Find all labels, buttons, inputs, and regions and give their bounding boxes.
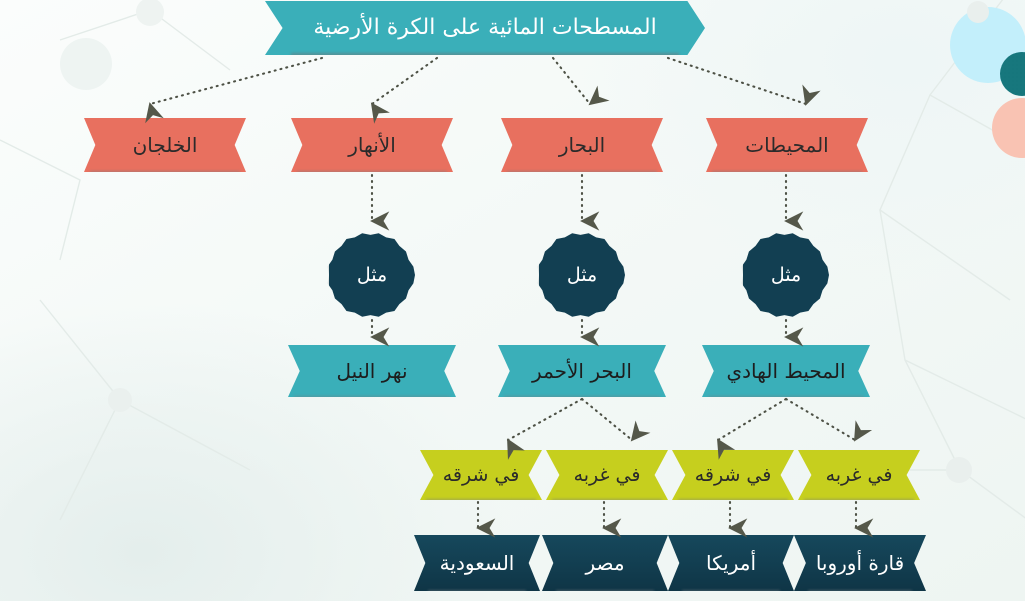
direction-label: في غربه — [826, 466, 893, 485]
example-node-red-sea[interactable]: البحر الأحمر — [498, 345, 666, 397]
example-badge-oceans: مثل — [743, 232, 829, 318]
direction-node-west-2[interactable]: في غربه — [798, 450, 920, 500]
category-node-seas[interactable]: البحار — [501, 118, 663, 172]
example-badge-rivers: مثل — [329, 232, 415, 318]
direction-label: في شرقه — [443, 466, 520, 485]
example-label: المحيط الهادي — [726, 361, 845, 381]
background-decoration — [0, 0, 1025, 601]
example-label: نهر النيل — [336, 361, 407, 381]
example-badge-seas: مثل — [539, 232, 625, 318]
category-label: المحيطات — [745, 135, 829, 155]
direction-label: في غربه — [574, 466, 641, 485]
place-label: مصر — [585, 553, 624, 573]
direction-label: في شرقه — [695, 466, 772, 485]
category-node-rivers[interactable]: الأنهار — [291, 118, 453, 172]
direction-node-east-1[interactable]: في شرقه — [420, 450, 542, 500]
direction-node-east-2[interactable]: في شرقه — [672, 450, 794, 500]
example-badge-label: مثل — [567, 264, 597, 286]
salmon-circle — [992, 98, 1025, 158]
example-badge-label: مثل — [771, 264, 801, 286]
direction-node-west-1[interactable]: في غربه — [546, 450, 668, 500]
page-title: المسطحات المائية على الكرة الأرضية — [265, 1, 705, 55]
example-badge-label: مثل — [357, 264, 387, 286]
category-label: الخلجان — [133, 135, 198, 155]
place-label: السعودية — [440, 553, 515, 573]
grey-node-circle — [108, 388, 132, 412]
category-node-oceans[interactable]: المحيطات — [706, 118, 868, 172]
grey-node-circle — [136, 0, 164, 26]
category-label: الأنهار — [348, 135, 396, 155]
category-label: البحار — [559, 135, 605, 155]
example-node-nile[interactable]: نهر النيل — [288, 345, 456, 397]
page-title-label: المسطحات المائية على الكرة الأرضية — [313, 17, 656, 39]
place-node-america[interactable]: أمريكا — [668, 535, 794, 591]
category-node-gulfs[interactable]: الخلجان — [84, 118, 246, 172]
place-node-saudi-arabia[interactable]: السعودية — [414, 535, 540, 591]
grey-node-circle — [967, 1, 989, 23]
example-label: البحر الأحمر — [532, 361, 632, 381]
slide-canvas: المسطحات المائية على الكرة الأرضية الخلج… — [0, 0, 1025, 601]
place-node-egypt[interactable]: مصر — [542, 535, 668, 591]
place-label: قارة أوروبا — [816, 553, 904, 573]
example-node-pacific[interactable]: المحيط الهادي — [702, 345, 870, 397]
grey-node-circle — [60, 38, 112, 90]
place-node-europe[interactable]: قارة أوروبا — [794, 535, 926, 591]
grey-node-circle — [946, 457, 972, 483]
place-label: أمريكا — [706, 553, 756, 573]
